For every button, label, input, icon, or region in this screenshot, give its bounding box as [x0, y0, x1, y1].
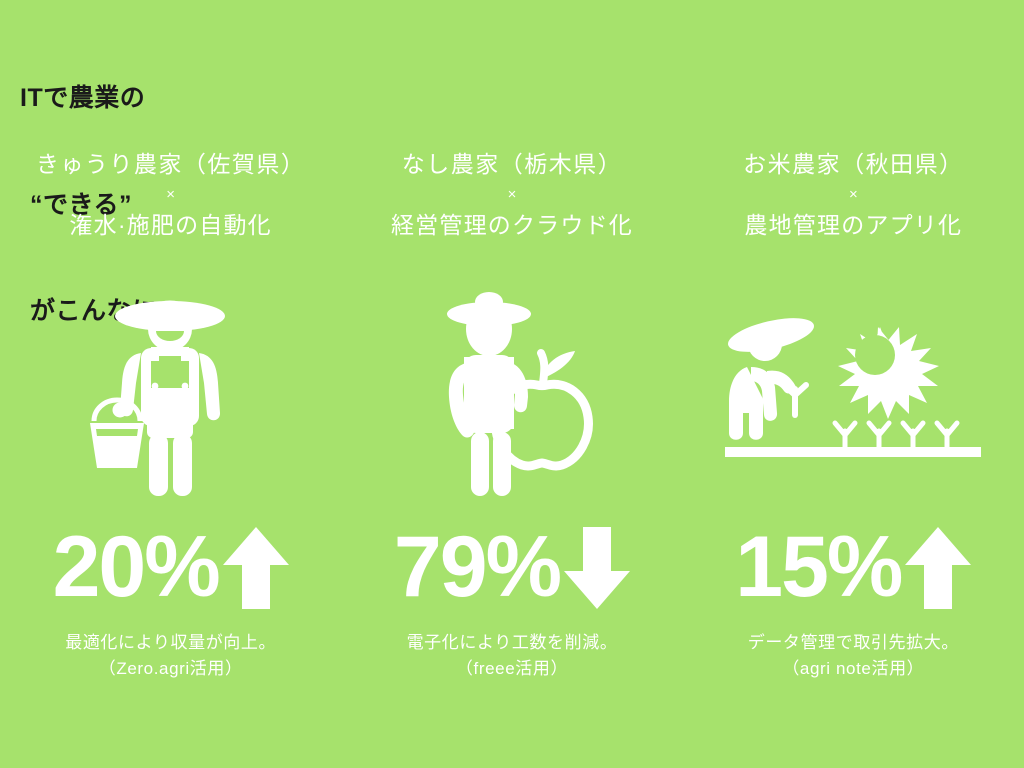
farmer-holding-pear-icon — [341, 282, 682, 502]
stat-row: 79% — [341, 520, 682, 616]
caption: データ管理で取引先拡大。 （agri note活用） — [748, 630, 959, 681]
arrow-up-icon — [905, 527, 971, 609]
solution-label: 農地管理のアプリ化 — [683, 211, 1024, 240]
sun-icon — [838, 327, 939, 419]
stat-columns: きゅうり農家（佐賀県） × 潅水·施肥の自動化 — [0, 150, 1024, 750]
caption-line-1: 最適化により収量が向上。 — [65, 630, 276, 656]
caption-line-1: データ管理で取引先拡大。 — [748, 630, 959, 656]
stat-column-rice: お米農家（秋田県） × 農地管理のアプリ化 — [683, 150, 1024, 750]
column-heading: きゅうり農家（佐賀県） × 潅水·施肥の自動化 — [0, 150, 341, 240]
stat-row: 20% — [0, 520, 341, 616]
times-separator: × — [0, 181, 341, 210]
stat-column-pear: なし農家（栃木県） × 経営管理のクラウド化 — [341, 150, 682, 750]
solution-label: 経営管理のクラウド化 — [341, 211, 682, 240]
times-separator: × — [341, 181, 682, 210]
caption-line-2: （freee活用） — [407, 656, 618, 682]
farmer-planting-seedlings-icon — [683, 282, 1024, 502]
caption: 最適化により収量が向上。 （Zero.agri活用） — [65, 630, 276, 681]
infographic-slide: ITで農業の “できる” がこんなに きゅうり農家（佐賀県） × 潅水·施肥の自… — [0, 0, 1024, 768]
stat-value: 15% — [735, 527, 901, 609]
farm-type-label: お米農家（秋田県） — [683, 150, 1024, 179]
caption: 電子化により工数を削減。 （freee活用） — [407, 630, 618, 681]
solution-label: 潅水·施肥の自動化 — [0, 211, 341, 240]
stat-row: 15% — [683, 520, 1024, 616]
arrow-up-icon — [223, 527, 289, 609]
column-heading: なし農家（栃木県） × 経営管理のクラウド化 — [341, 150, 682, 240]
arrow-down-icon — [564, 527, 630, 609]
title-line-1: ITで農業の — [20, 81, 158, 117]
stat-value: 20% — [53, 527, 219, 609]
stat-value: 79% — [394, 527, 560, 609]
caption-line-1: 電子化により工数を削減。 — [407, 630, 618, 656]
times-separator: × — [683, 181, 1024, 210]
column-heading: お米農家（秋田県） × 農地管理のアプリ化 — [683, 150, 1024, 240]
caption-line-2: （agri note活用） — [748, 656, 959, 682]
stat-column-cucumber: きゅうり農家（佐賀県） × 潅水·施肥の自動化 — [0, 150, 341, 750]
farm-type-label: なし農家（栃木県） — [341, 150, 682, 179]
caption-line-2: （Zero.agri活用） — [65, 656, 276, 682]
farm-type-label: きゅうり農家（佐賀県） — [0, 150, 341, 179]
farmer-with-bucket-icon — [0, 282, 341, 502]
